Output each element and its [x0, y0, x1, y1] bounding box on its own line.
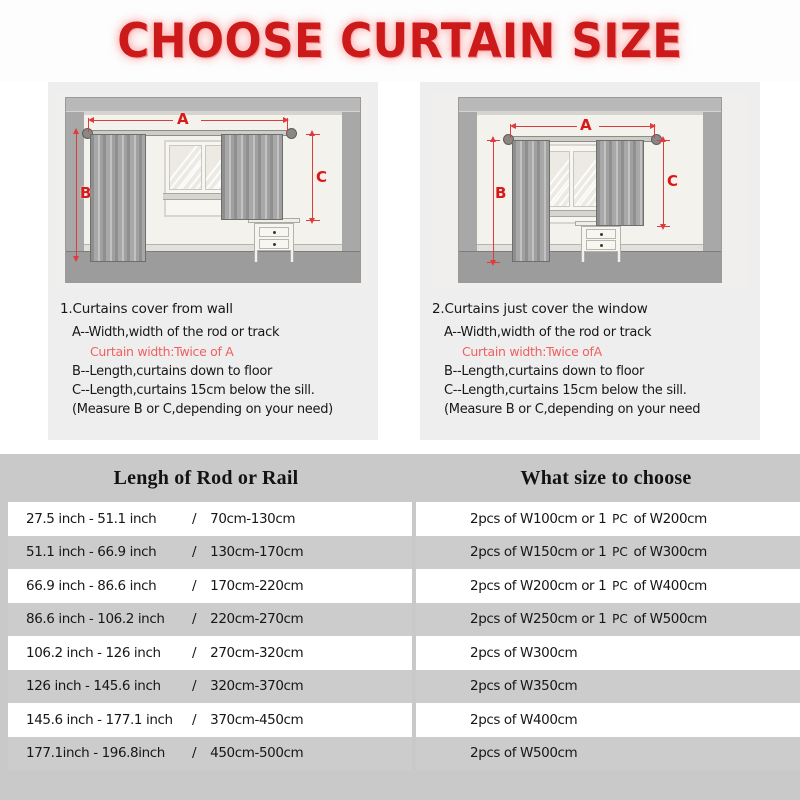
unit-separator: /	[176, 712, 210, 728]
length-cm-value: 220cm-270cm	[210, 611, 303, 627]
table-cell-length: 51.1 inch - 66.9 inch/130cm-170cm	[8, 536, 412, 570]
drawer-knob-icon	[273, 231, 276, 234]
nightstand-body	[581, 226, 621, 252]
length-inch-value: 177.1inch - 196.8inch	[26, 745, 176, 761]
dim-c-arrow-bottom	[309, 218, 315, 224]
diagram-image-2: A B C	[432, 91, 748, 289]
length-inch-value: 126 inch - 145.6 inch	[26, 678, 176, 694]
curtain-right	[596, 140, 644, 226]
choose-text: 2pcs of W250cm or 1	[470, 611, 606, 627]
choose-unit-pc: PC	[606, 512, 633, 526]
dim-b-arrow-top	[73, 128, 79, 134]
table-cell-choose: 2pcs of W300cm	[416, 636, 800, 670]
table-row: 126 inch - 145.6 inch/320cm-370cm2pcs of…	[0, 670, 800, 704]
length-inch-value: 86.6 inch - 106.2 inch	[26, 611, 176, 627]
length-cm-value: 70cm-130cm	[210, 511, 295, 527]
table-cell-length: 177.1inch - 196.8inch/450cm-500cm	[8, 737, 412, 771]
dim-label-c: C	[667, 174, 678, 189]
ceiling	[459, 98, 721, 113]
table-cell-choose: 2pcs of W100cm or 1 PC of W200cm	[416, 502, 800, 536]
dim-b-line	[76, 132, 77, 258]
length-cm-value: 370cm-450cm	[210, 712, 303, 728]
right-wall	[703, 112, 721, 252]
choose-text: 2pcs of W500cm	[470, 745, 577, 761]
table-row: 27.5 inch - 51.1 inch/70cm-130cm2pcs of …	[0, 502, 800, 536]
floor	[459, 251, 721, 282]
length-inch-value: 51.1 inch - 66.9 inch	[26, 544, 176, 560]
length-inch-value: 145.6 inch - 177.1 inch	[26, 712, 176, 728]
panel-curtains-just-cover-window: A B C 2.Curtains just cover the window A…	[420, 82, 760, 440]
unit-separator: /	[176, 678, 210, 694]
choose-text-suffix: of W300cm	[634, 544, 707, 560]
table-cell-length: 86.6 inch - 106.2 inch/220cm-270cm	[8, 603, 412, 637]
dim-a-tick-left	[88, 118, 89, 132]
drawer-knob-icon	[600, 244, 603, 247]
length-inch-value: 66.9 inch - 86.6 inch	[26, 578, 176, 594]
dim-label-b: B	[495, 186, 506, 201]
length-cm-value: 450cm-500cm	[210, 745, 303, 761]
table-cell-length: 106.2 inch - 126 inch/270cm-320cm	[8, 636, 412, 670]
dim-c-arrow-bottom	[660, 224, 666, 230]
panel-1-line-c: C--Length,curtains 15cm below the sill.	[72, 383, 378, 398]
nightstand-leg-left	[581, 251, 585, 262]
unit-separator: /	[176, 645, 210, 661]
unit-separator: /	[176, 544, 210, 560]
dim-c-arrow-top	[309, 130, 315, 136]
choose-text-suffix: of W200cm	[634, 511, 707, 527]
unit-separator: /	[176, 578, 210, 594]
room-illustration: A B C	[458, 97, 722, 283]
room-illustration: A B C	[65, 97, 361, 283]
window-pane-left	[169, 145, 202, 190]
dim-label-c: C	[316, 170, 327, 185]
dim-b-tick-bottom	[487, 262, 500, 263]
choose-unit-pc: PC	[606, 612, 633, 626]
panel-2-heading: 2.Curtains just cover the window	[432, 301, 760, 317]
dim-a-arrow-right	[283, 117, 289, 123]
dim-a-tick-right	[654, 124, 655, 138]
choose-text-suffix: of W500cm	[634, 611, 707, 627]
panel-2-line-note: (Measure B or C,depending on your need	[444, 402, 760, 417]
table-cell-length: 66.9 inch - 86.6 inch/170cm-220cm	[8, 569, 412, 603]
nightstand-leg-right	[617, 251, 621, 262]
length-cm-value: 270cm-320cm	[210, 645, 303, 661]
dim-label-a: A	[580, 118, 592, 133]
dim-a-arrow-right	[650, 123, 656, 129]
panel-1-text: 1.Curtains cover from wall A--Width,widt…	[48, 289, 378, 417]
choose-text: 2pcs of W200cm or 1	[470, 578, 606, 594]
table-body: 27.5 inch - 51.1 inch/70cm-130cm2pcs of …	[0, 502, 800, 770]
ceiling	[66, 98, 360, 113]
dim-a-line-right	[201, 120, 284, 121]
table-cell-length: 145.6 inch - 177.1 inch/370cm-450cm	[8, 703, 412, 737]
nightstand-drawer-bottom	[259, 239, 289, 249]
dim-a-tick-right	[287, 118, 288, 132]
nightstand-leg-left	[254, 250, 258, 262]
table-cell-choose: 2pcs of W150cm or 1 PC of W300cm	[416, 536, 800, 570]
drawer-knob-icon	[273, 243, 276, 246]
panel-2-line-c: C--Length,curtains 15cm below the sill.	[444, 383, 760, 398]
choose-text: 2pcs of W350cm	[470, 678, 577, 694]
panel-2-line-b: B--Length,curtains down to floor	[444, 364, 760, 379]
dim-a-tick-left	[510, 124, 511, 138]
choose-text: 2pcs of W100cm or 1	[470, 511, 606, 527]
dim-a-line-left	[93, 120, 173, 121]
nightstand-drawer-bottom	[586, 240, 616, 250]
left-wall	[459, 112, 477, 252]
table-row: 145.6 inch - 177.1 inch/370cm-450cm2pcs …	[0, 703, 800, 737]
dim-b-arrow-bottom	[73, 256, 79, 262]
choose-text: 2pcs of W300cm	[470, 645, 577, 661]
choose-unit-pc: PC	[606, 545, 633, 559]
table-row: 86.6 inch - 106.2 inch/220cm-270cm2pcs o…	[0, 603, 800, 637]
dim-c-tick-top	[657, 140, 670, 141]
dim-c-tick-top	[306, 134, 320, 135]
curtain-right	[221, 134, 283, 220]
table-row: 66.9 inch - 86.6 inch/170cm-220cm2pcs of…	[0, 569, 800, 603]
curtain-left	[90, 134, 146, 262]
choose-text: 2pcs of W400cm	[470, 712, 577, 728]
table-row: 51.1 inch - 66.9 inch/130cm-170cm2pcs of…	[0, 536, 800, 570]
dim-c-line	[663, 140, 664, 226]
table-row: 177.1inch - 196.8inch/450cm-500cm2pcs of…	[0, 737, 800, 771]
choose-text-suffix: of W400cm	[634, 578, 707, 594]
table-header-choose: What size to choose	[412, 454, 800, 502]
dim-c-line	[312, 134, 313, 220]
dim-b-arrow-bottom	[490, 260, 496, 266]
dim-label-a: A	[177, 112, 189, 127]
drawer-knob-icon	[600, 233, 603, 236]
unit-separator: /	[176, 745, 210, 761]
dim-label-b: B	[80, 186, 91, 201]
dim-c-arrow-top	[660, 136, 666, 142]
page-title: CHOOSE CURTAIN SIZE	[117, 14, 682, 69]
nightstand-leg-right	[290, 250, 294, 262]
window-pane-right	[573, 151, 597, 207]
table-cell-length: 126 inch - 145.6 inch/320cm-370cm	[8, 670, 412, 704]
dim-c-tick-bottom	[657, 226, 670, 227]
dim-c-tick-bottom	[306, 220, 320, 221]
length-inch-value: 106.2 inch - 126 inch	[26, 645, 176, 661]
table-cell-choose: 2pcs of W500cm	[416, 737, 800, 771]
table-header-length: Lengh of Rod or Rail	[0, 454, 412, 502]
panel-1-line-red: Curtain width:Twice of A	[90, 344, 378, 359]
panel-1-line-a: A--Width,width of the rod or track	[72, 325, 378, 340]
table-cell-choose: 2pcs of W200cm or 1 PC of W400cm	[416, 569, 800, 603]
panel-1-line-b: B--Length,curtains down to floor	[72, 364, 378, 379]
diagram-image-1: A B C	[57, 91, 369, 289]
table-cell-choose: 2pcs of W400cm	[416, 703, 800, 737]
length-cm-value: 170cm-220cm	[210, 578, 303, 594]
table-row: 106.2 inch - 126 inch/270cm-320cm2pcs of…	[0, 636, 800, 670]
dim-a-line-left	[515, 126, 577, 127]
panel-1-heading: 1.Curtains cover from wall	[60, 301, 378, 317]
nightstand-drawer-top	[586, 229, 616, 239]
panel-2-line-a: A--Width,width of the rod or track	[444, 325, 760, 340]
page-header: CHOOSE CURTAIN SIZE	[0, 0, 800, 82]
dim-b-arrow-top	[490, 136, 496, 142]
table-cell-choose: 2pcs of W250cm or 1 PC of W500cm	[416, 603, 800, 637]
panel-2-text: 2.Curtains just cover the window A--Widt…	[420, 289, 760, 417]
unit-separator: /	[176, 511, 210, 527]
table-cell-length: 27.5 inch - 51.1 inch/70cm-130cm	[8, 502, 412, 536]
nightstand-body	[254, 223, 294, 251]
length-cm-value: 130cm-170cm	[210, 544, 303, 560]
table-header-row: Lengh of Rod or Rail What size to choose	[0, 454, 800, 502]
panel-1-line-note: (Measure B or C,depending on your need)	[72, 402, 378, 417]
choose-text: 2pcs of W150cm or 1	[470, 544, 606, 560]
table-cell-choose: 2pcs of W350cm	[416, 670, 800, 704]
choose-unit-pc: PC	[606, 579, 633, 593]
diagram-panels: A B C 1.Curtains cover from wall A--Widt…	[0, 82, 800, 454]
nightstand-drawer-top	[259, 227, 289, 237]
right-wall	[342, 112, 360, 252]
size-chart-table: Lengh of Rod or Rail What size to choose…	[0, 454, 800, 800]
curtain-left	[512, 140, 550, 262]
panel-curtains-cover-from-wall: A B C 1.Curtains cover from wall A--Widt…	[48, 82, 378, 440]
dim-a-line-right	[599, 126, 651, 127]
length-cm-value: 320cm-370cm	[210, 678, 303, 694]
unit-separator: /	[176, 611, 210, 627]
window-frame	[541, 144, 601, 224]
dim-b-line	[493, 140, 494, 262]
panel-2-line-red: Curtain width:Twice ofA	[462, 344, 760, 359]
length-inch-value: 27.5 inch - 51.1 inch	[26, 511, 176, 527]
dim-b-tick-top	[487, 140, 500, 141]
